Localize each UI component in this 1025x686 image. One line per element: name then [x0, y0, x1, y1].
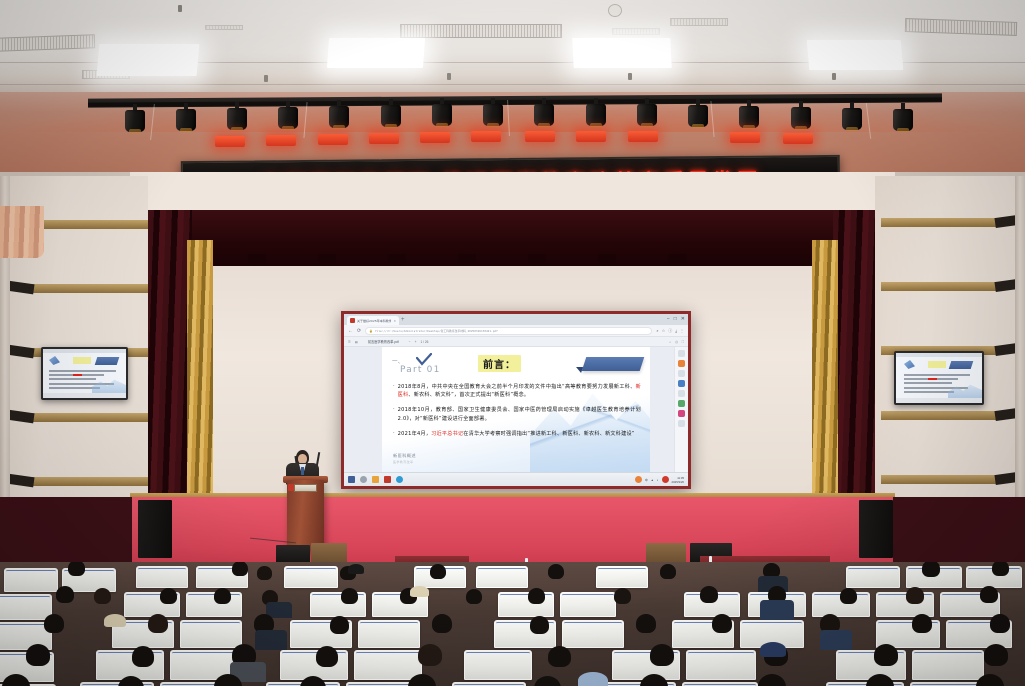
attendee-head — [432, 614, 452, 633]
attendee-head — [534, 676, 561, 686]
presenter-tie — [301, 467, 304, 475]
attendee-head — [650, 644, 674, 666]
bullet-text: 2018年8月，中共中央在全国教育大会之前半个月印发的文件中指出“高等教育要努力… — [398, 383, 641, 399]
attendee-head — [906, 587, 924, 604]
seat — [4, 568, 58, 592]
ime-icon[interactable] — [635, 476, 642, 483]
sprinkler-head — [264, 75, 268, 82]
ceiling-dome-camera — [608, 4, 622, 17]
pdf-zoom-in-icon[interactable]: + — [415, 340, 417, 344]
ceiling-panel-light — [807, 40, 904, 70]
seat — [476, 566, 528, 588]
podium-emblem — [288, 484, 294, 491]
antivirus-icon[interactable] — [662, 476, 669, 483]
red-wash-light — [525, 131, 555, 142]
network-icon[interactable]: ▲ — [651, 478, 654, 482]
stage-spotlight — [329, 100, 349, 130]
info-icon[interactable]: ⓘ — [668, 328, 672, 334]
ceiling-vent — [670, 18, 728, 26]
attendee-head — [430, 564, 446, 579]
pdf-open-icon[interactable]: ▤ — [355, 340, 358, 344]
menu-icon[interactable]: ⋮ — [680, 328, 684, 334]
slide-footer: 新医科概述 医学教育改革 — [393, 453, 416, 464]
slide-bullet-item: · 2021年4月，习近平总书记在清华大学考察时强调指出“推进新工科、新医科、新… — [393, 430, 641, 438]
slide-bullet-item: · 2018年10月，教育部、国家卫生健康委员会、国家中医药管理局启动实施《卓越… — [393, 406, 641, 422]
star-icon[interactable]: ☆ — [662, 328, 666, 334]
stage-spotlight — [586, 98, 606, 128]
attendee-cap — [104, 614, 126, 627]
valance-curtain — [130, 210, 895, 266]
presentation-slide: 一、 Part 01 前言： · 2018年8月，中共中央在全国教育大会之前半个… — [382, 347, 650, 472]
attendee-head — [330, 616, 349, 634]
right-wall-display — [894, 351, 984, 405]
browser-tab-bar: 关于做好2025年本科教学工作的通知 ✕ + − □ ✕ — [344, 314, 688, 325]
attendee-head — [758, 674, 786, 686]
attendee-head — [44, 614, 64, 633]
gold-curtain-right — [812, 240, 838, 520]
auditorium-photo: 在新医科统领下 推进医学教育改革高质量发展 — [0, 0, 1025, 686]
stage-spotlight — [381, 99, 401, 129]
red-wash-light — [471, 131, 501, 142]
peach-window-curtain — [0, 206, 44, 258]
red-wash-light — [266, 135, 296, 146]
floor-monitor — [646, 543, 686, 563]
red-wash-light — [369, 133, 399, 144]
search-icon[interactable] — [360, 476, 367, 483]
stage-spotlight — [534, 98, 554, 128]
zoom-icon[interactable]: ⌕ — [656, 328, 658, 334]
sprinkler-head — [832, 73, 836, 80]
attendee-head — [840, 588, 857, 604]
minimize-icon[interactable]: − — [667, 315, 670, 323]
sprinkler-head — [447, 73, 451, 80]
rail-highlight-icon[interactable] — [678, 360, 685, 367]
seat — [912, 650, 984, 680]
attendee-head — [160, 588, 177, 604]
ceiling-vent — [0, 34, 95, 51]
attendee-torso — [255, 630, 287, 650]
new-tab-button[interactable]: + — [401, 316, 405, 325]
stage-spotlight — [227, 102, 247, 132]
attendee-cap — [410, 586, 429, 597]
speaker-tower-left — [138, 500, 172, 558]
system-tray: 中 ▲ ◖ 11:05 2025/3/26 — [635, 476, 684, 484]
attendee-head — [68, 562, 85, 576]
back-icon[interactable]: ← — [348, 328, 353, 334]
rail-stamp-icon[interactable] — [678, 400, 685, 407]
edge-icon[interactable] — [396, 476, 403, 483]
speaker-tower-right — [859, 500, 893, 558]
browser-address-bar: ← ⟳ 🔒 file:///C:/Users/Administrator/Des… — [344, 325, 688, 337]
favicon-icon — [350, 318, 355, 323]
attendee-head — [990, 614, 1010, 633]
attendee-head — [528, 588, 545, 604]
attendee-head — [660, 564, 676, 579]
slide-bullet-item: · 2018年8月，中共中央在全国教育大会之前半个月印发的文件中指出“高等教育要… — [393, 383, 641, 399]
attendee-head — [132, 646, 154, 667]
stage-spotlight — [688, 99, 708, 129]
attendee-head — [26, 644, 50, 666]
ceiling — [0, 0, 1025, 95]
pdf-menu-icon[interactable]: ☰ — [348, 340, 351, 344]
seat — [464, 650, 532, 680]
attendee-cap — [348, 564, 364, 574]
attendee-head — [712, 614, 732, 633]
attendee-torso — [760, 600, 794, 620]
attendee-head — [530, 616, 549, 634]
floor-monitor — [311, 543, 347, 563]
pdf-print-icon[interactable]: ⎙ — [675, 340, 678, 344]
rail-more-icon[interactable] — [678, 420, 685, 427]
slide-part-label: Part 01 — [400, 365, 441, 375]
attendee-cap — [578, 672, 608, 686]
attendee-head — [232, 562, 248, 576]
attendee-head — [214, 588, 231, 604]
attendee-torso — [820, 630, 852, 650]
attendee-head — [316, 646, 338, 667]
stage-spotlight — [125, 104, 145, 134]
ceiling-vent — [905, 18, 1017, 36]
podium-control-panel — [294, 484, 317, 492]
red-wash-light — [318, 134, 348, 145]
seat — [846, 566, 900, 588]
pdf-page-indicator: 1 / 26 — [420, 340, 428, 344]
reload-icon[interactable]: ⟳ — [357, 328, 361, 334]
seat — [0, 594, 52, 620]
attendee-head — [700, 586, 718, 603]
attendee-head — [874, 644, 898, 666]
seat — [136, 566, 188, 588]
rail-search-icon[interactable] — [678, 350, 685, 357]
seat — [452, 682, 526, 686]
stage-spotlight — [842, 102, 862, 132]
bullet-text: 2018年10月，教育部、国家卫生健康委员会、国家中医药管理局启动实施《卓越医生… — [398, 406, 641, 422]
pdf-toolbar: ☰ ▤ 前言医学教育改革.pdf − + 1 / 26 ⌕ ⎙ ⛶ — [344, 337, 688, 347]
ceiling-vent — [205, 25, 243, 30]
stage-spotlight — [637, 98, 657, 128]
attendee-head — [614, 588, 631, 604]
stage-spotlight — [893, 103, 913, 133]
ceiling-panel-light — [327, 38, 425, 68]
lock-icon: 🔒 — [369, 329, 373, 333]
left-wall-display — [41, 347, 128, 400]
attendee-head — [548, 564, 564, 579]
red-wash-light — [783, 133, 813, 144]
slide-ribbon-graphic — [582, 357, 645, 371]
seat — [686, 650, 756, 680]
ceiling-vent — [400, 24, 562, 38]
attendee-head — [148, 614, 168, 633]
ime-label[interactable]: 中 — [645, 478, 648, 482]
start-icon[interactable] — [348, 476, 355, 483]
sprinkler-head — [628, 73, 632, 80]
browser-tab-title: 关于做好2025年本科教学工作的通知 — [357, 319, 391, 323]
red-wash-light — [628, 131, 658, 142]
explorer-icon[interactable] — [372, 476, 379, 483]
rail-share-icon[interactable] — [678, 410, 685, 417]
seat — [876, 592, 934, 617]
projection-screen: 关于做好2025年本科教学工作的通知 ✕ + − □ ✕ ← ⟳ 🔒 file:… — [341, 311, 691, 489]
ceiling-panel-light — [572, 38, 672, 68]
pdf-document-title: 前言医学教育改革.pdf — [368, 339, 399, 344]
seat — [562, 620, 624, 648]
slide-footer-main: 新医科概述 — [393, 453, 416, 459]
slide-bullet-list: · 2018年8月，中共中央在全国教育大会之前半个月印发的文件中指出“高等教育要… — [393, 383, 641, 445]
stage-spotlight — [739, 100, 759, 130]
slide-part-prefix: 一、 — [392, 357, 404, 365]
slide-title: 前言： — [478, 355, 521, 372]
ceiling-panel-light — [97, 44, 200, 76]
rail-sign-icon[interactable] — [678, 380, 685, 387]
windows-taskbar: 中 ▲ ◖ 11:05 2025/3/26 — [344, 472, 688, 486]
attendee-head — [636, 614, 656, 633]
pdf-search-icon[interactable]: ⌕ — [669, 340, 671, 344]
ceiling-vent — [612, 28, 660, 35]
seat — [498, 592, 554, 617]
stage-spotlight — [791, 101, 811, 131]
rail-note-icon[interactable] — [678, 370, 685, 377]
attendee-head — [992, 562, 1009, 576]
stage-spotlight — [278, 101, 298, 131]
download-icon[interactable]: ⤓ — [675, 328, 677, 334]
attendee-head — [418, 644, 442, 666]
seat — [596, 566, 648, 588]
seat — [180, 620, 242, 648]
bullet-marker: · — [393, 383, 395, 399]
pdf-sidebar-rail — [674, 347, 688, 472]
red-wash-light — [420, 132, 450, 143]
pdf-page-area: 一、 Part 01 前言： · 2018年8月，中共中央在全国教育大会之前半个… — [344, 347, 688, 472]
bullet-text: 2021年4月，习近平总书记在清华大学考察时强调指出“推进新工科、新医科、新农科… — [398, 430, 635, 438]
maximize-icon[interactable]: □ — [674, 315, 677, 323]
attendee-head — [922, 562, 940, 577]
red-wash-light — [730, 132, 760, 143]
pdf-zoom-out-icon[interactable]: − — [409, 340, 411, 344]
floor-monitor — [276, 545, 310, 563]
red-wash-light — [576, 131, 606, 142]
attendee-head — [466, 589, 482, 604]
audience-seating — [0, 562, 1025, 686]
gold-curtain-left — [187, 240, 213, 520]
url-field[interactable]: 🔒 file:///C:/Users/Administrator/Desktop… — [365, 327, 652, 335]
seat — [284, 566, 338, 588]
attendee-head — [912, 614, 932, 633]
seat — [560, 592, 616, 617]
attendee-head — [94, 588, 111, 604]
stage-spotlight — [432, 98, 452, 128]
stage-spotlight — [483, 98, 503, 128]
attendee-head — [56, 586, 74, 603]
slide-footer-sub: 医学教育改革 — [393, 460, 416, 464]
seat — [358, 620, 420, 648]
stage-spotlight — [176, 103, 196, 133]
powerpoint-icon[interactable] — [384, 476, 391, 483]
attendee-head — [548, 646, 571, 667]
attendee-head — [341, 588, 358, 604]
attendee-head — [984, 644, 1008, 666]
browser-tab[interactable]: 关于做好2025年本科教学工作的通知 ✕ — [347, 316, 399, 325]
close-icon[interactable]: ✕ — [681, 315, 685, 323]
bullet-marker: · — [393, 406, 395, 422]
volume-icon[interactable]: ◖ — [657, 478, 659, 482]
taskbar-clock[interactable]: 11:05 2025/3/26 — [672, 476, 684, 484]
pdf-fullscreen-icon[interactable]: ⛶ — [682, 340, 684, 344]
url-text: file:///C:/Users/Administrator/Desktop/新… — [375, 329, 498, 333]
bullet-marker: · — [393, 430, 395, 438]
window-controls[interactable]: − □ ✕ — [667, 315, 685, 323]
sprinkler-head — [178, 5, 182, 12]
attendee-head — [257, 566, 272, 580]
red-wash-light — [215, 136, 245, 147]
seat — [354, 650, 422, 680]
attendee-cap — [760, 642, 786, 657]
seat — [682, 682, 758, 686]
attendee-head — [980, 586, 998, 603]
rail-shape-icon[interactable] — [678, 390, 685, 397]
